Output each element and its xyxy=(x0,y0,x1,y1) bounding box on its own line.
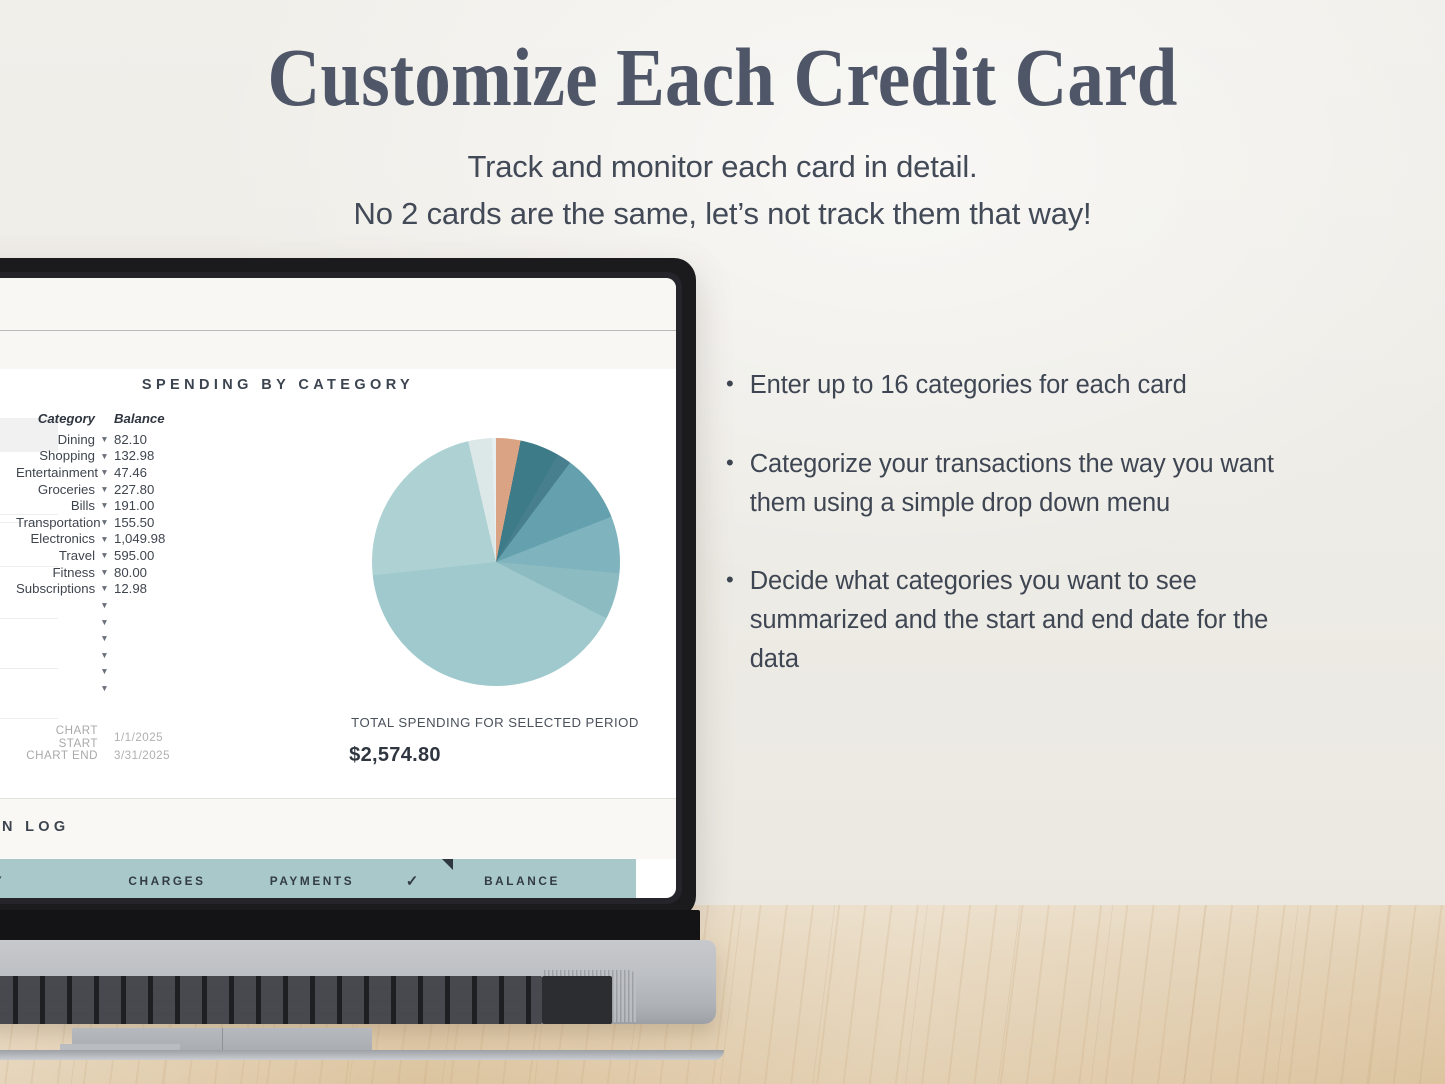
keyboard-right-keys[interactable] xyxy=(542,976,612,1024)
category-row: Subscriptions▼12.98 xyxy=(16,580,196,597)
chart-start-label: CHART START xyxy=(16,724,114,750)
column-header-checkmark-icon[interactable]: ✓ xyxy=(382,872,442,890)
chevron-down-icon[interactable]: ▼ xyxy=(95,501,114,510)
chevron-down-icon[interactable]: ▼ xyxy=(95,601,114,610)
category-row: ▼ xyxy=(16,597,196,614)
laptop-base xyxy=(0,910,730,1032)
column-header-charges[interactable]: CHARGES xyxy=(92,874,242,888)
list-item: • Decide what categories you want to see… xyxy=(726,562,1306,678)
category-row: Electronics▼1,049.98 xyxy=(16,531,196,548)
category-balance: 82.10 xyxy=(114,432,196,447)
chevron-down-icon[interactable]: ▼ xyxy=(95,485,114,494)
category-name: Entertainment xyxy=(16,465,95,480)
column-header-balance: Balance xyxy=(114,411,196,426)
list-item: • Enter up to 16 categories for each car… xyxy=(726,366,1306,405)
category-balance: 1,049.98 xyxy=(114,531,196,546)
chevron-down-icon[interactable]: ▼ xyxy=(95,518,114,527)
category-balance: 47.46 xyxy=(114,465,196,480)
category-row: ▼ xyxy=(16,614,196,631)
laptop-front-edge xyxy=(0,1050,724,1060)
keyboard[interactable] xyxy=(0,976,542,1024)
category-summary-table: Category Balance Dining▼82.10Shopping▼13… xyxy=(16,411,196,697)
category-row: Entertainment▼47.46 xyxy=(16,464,196,481)
category-name: Subscriptions xyxy=(16,581,95,596)
category-row: ▼ xyxy=(16,663,196,680)
total-spending-value: $2,574.80 xyxy=(260,744,530,767)
chevron-down-icon[interactable]: ▼ xyxy=(95,468,114,477)
chevron-down-icon[interactable]: ▼ xyxy=(95,568,114,577)
column-header-balance[interactable]: BALANCE xyxy=(442,874,602,888)
category-balance: 191.00 xyxy=(114,498,196,513)
transaction-log-band xyxy=(0,799,676,859)
column-header-payments[interactable]: PAYMENTS xyxy=(242,874,382,888)
chevron-down-icon[interactable]: ▼ xyxy=(95,551,114,560)
category-row: Travel▼595.00 xyxy=(16,547,196,564)
category-row: Dining▼82.10 xyxy=(16,431,196,448)
table-header-row: Category Balance xyxy=(16,411,196,426)
keyboard-keys[interactable] xyxy=(0,976,542,1024)
transaction-log-title: TRANSACTION LOG xyxy=(0,819,69,835)
header-block: Customize Each Credit Card Track and mon… xyxy=(0,0,1445,237)
laptop-lid: SPENDING BY CATEGORY Category Balance Di… xyxy=(0,258,696,918)
category-balance: 132.98 xyxy=(114,448,196,463)
laptop-bezel: SPENDING BY CATEGORY Category Balance Di… xyxy=(0,272,682,904)
category-name: Groceries xyxy=(16,482,95,497)
category-name: Travel xyxy=(16,548,95,563)
chart-start-value[interactable]: 1/1/2025 xyxy=(114,731,204,744)
laptop-deck xyxy=(0,940,716,1024)
chart-end-value[interactable]: 3/31/2025 xyxy=(114,749,204,762)
category-name: Electronics xyxy=(16,531,95,546)
spreadsheet-toolbar-top[interactable] xyxy=(0,278,676,330)
category-row: Groceries▼227.80 xyxy=(16,481,196,498)
category-balance: 155.50 xyxy=(114,515,196,530)
chevron-down-icon[interactable]: ▼ xyxy=(95,452,114,461)
category-balance: 595.00 xyxy=(114,548,196,563)
bullet-text: Categorize your transactions the way you… xyxy=(750,445,1306,523)
category-name: Bills xyxy=(16,498,95,513)
spending-by-category-title: SPENDING BY CATEGORY xyxy=(48,377,508,393)
transaction-table-header: CATEGORY CHARGES PAYMENTS ✓ BALANCE xyxy=(0,859,636,898)
category-balance: 80.00 xyxy=(114,565,196,580)
chart-end-row: CHART END 3/31/2025 xyxy=(16,746,204,764)
chevron-down-icon[interactable]: ▼ xyxy=(95,651,114,660)
column-header-category: Category xyxy=(16,411,114,426)
category-row: ▼ xyxy=(16,630,196,647)
page-title: Customize Each Credit Card xyxy=(87,36,1359,119)
category-name: Dining xyxy=(16,432,95,447)
chevron-down-icon[interactable]: ▼ xyxy=(95,667,114,676)
trackpad-edge-line xyxy=(222,1028,223,1052)
cell-selected-corner-marker xyxy=(442,859,453,870)
chevron-down-icon[interactable]: ▼ xyxy=(95,435,114,444)
feature-bullet-list: • Enter up to 16 categories for each car… xyxy=(726,366,1306,679)
chart-date-range: CHART START 1/1/2025 CHART END 3/31/2025 xyxy=(16,728,204,764)
spreadsheet-toolbar-second[interactable] xyxy=(0,331,676,369)
chart-end-label: CHART END xyxy=(16,749,114,762)
category-name: Fitness xyxy=(16,565,95,580)
chevron-down-icon[interactable]: ▼ xyxy=(95,634,114,643)
category-row: Shopping▼132.98 xyxy=(16,448,196,465)
category-row: Bills▼191.00 xyxy=(16,497,196,514)
category-name: Shopping xyxy=(16,448,95,463)
spending-pie-chart xyxy=(372,438,620,686)
chevron-down-icon[interactable]: ▼ xyxy=(95,584,114,593)
chart-start-row: CHART START 1/1/2025 xyxy=(16,728,204,746)
chevron-down-icon[interactable]: ▼ xyxy=(95,535,114,544)
chevron-down-icon[interactable]: ▼ xyxy=(95,618,114,627)
column-header-category[interactable]: CATEGORY xyxy=(0,874,92,888)
bullet-text: Enter up to 16 categories for each card xyxy=(750,366,1187,405)
category-balance: 227.80 xyxy=(114,482,196,497)
subtitle-line-2: No 2 cards are the same, let’s not track… xyxy=(0,190,1445,237)
subtitle-line-1: Track and monitor each card in detail. xyxy=(0,143,1445,190)
list-item: • Categorize your transactions the way y… xyxy=(726,445,1306,523)
category-row: Transportation▼155.50 xyxy=(16,514,196,531)
laptop-screen: SPENDING BY CATEGORY Category Balance Di… xyxy=(0,278,676,898)
category-row: Fitness▼80.00 xyxy=(16,564,196,581)
laptop-mockup: SPENDING BY CATEGORY Category Balance Di… xyxy=(0,258,736,1084)
chevron-down-icon[interactable]: ▼ xyxy=(95,684,114,693)
total-spending-label: TOTAL SPENDING FOR SELECTED PERIOD xyxy=(260,715,676,730)
bullet-text: Decide what categories you want to see s… xyxy=(750,562,1306,678)
category-name: Transportation xyxy=(16,515,95,530)
category-row: ▼ xyxy=(16,680,196,697)
category-balance: 12.98 xyxy=(114,581,196,596)
category-row: ▼ xyxy=(16,647,196,664)
cell-divider xyxy=(0,718,58,719)
